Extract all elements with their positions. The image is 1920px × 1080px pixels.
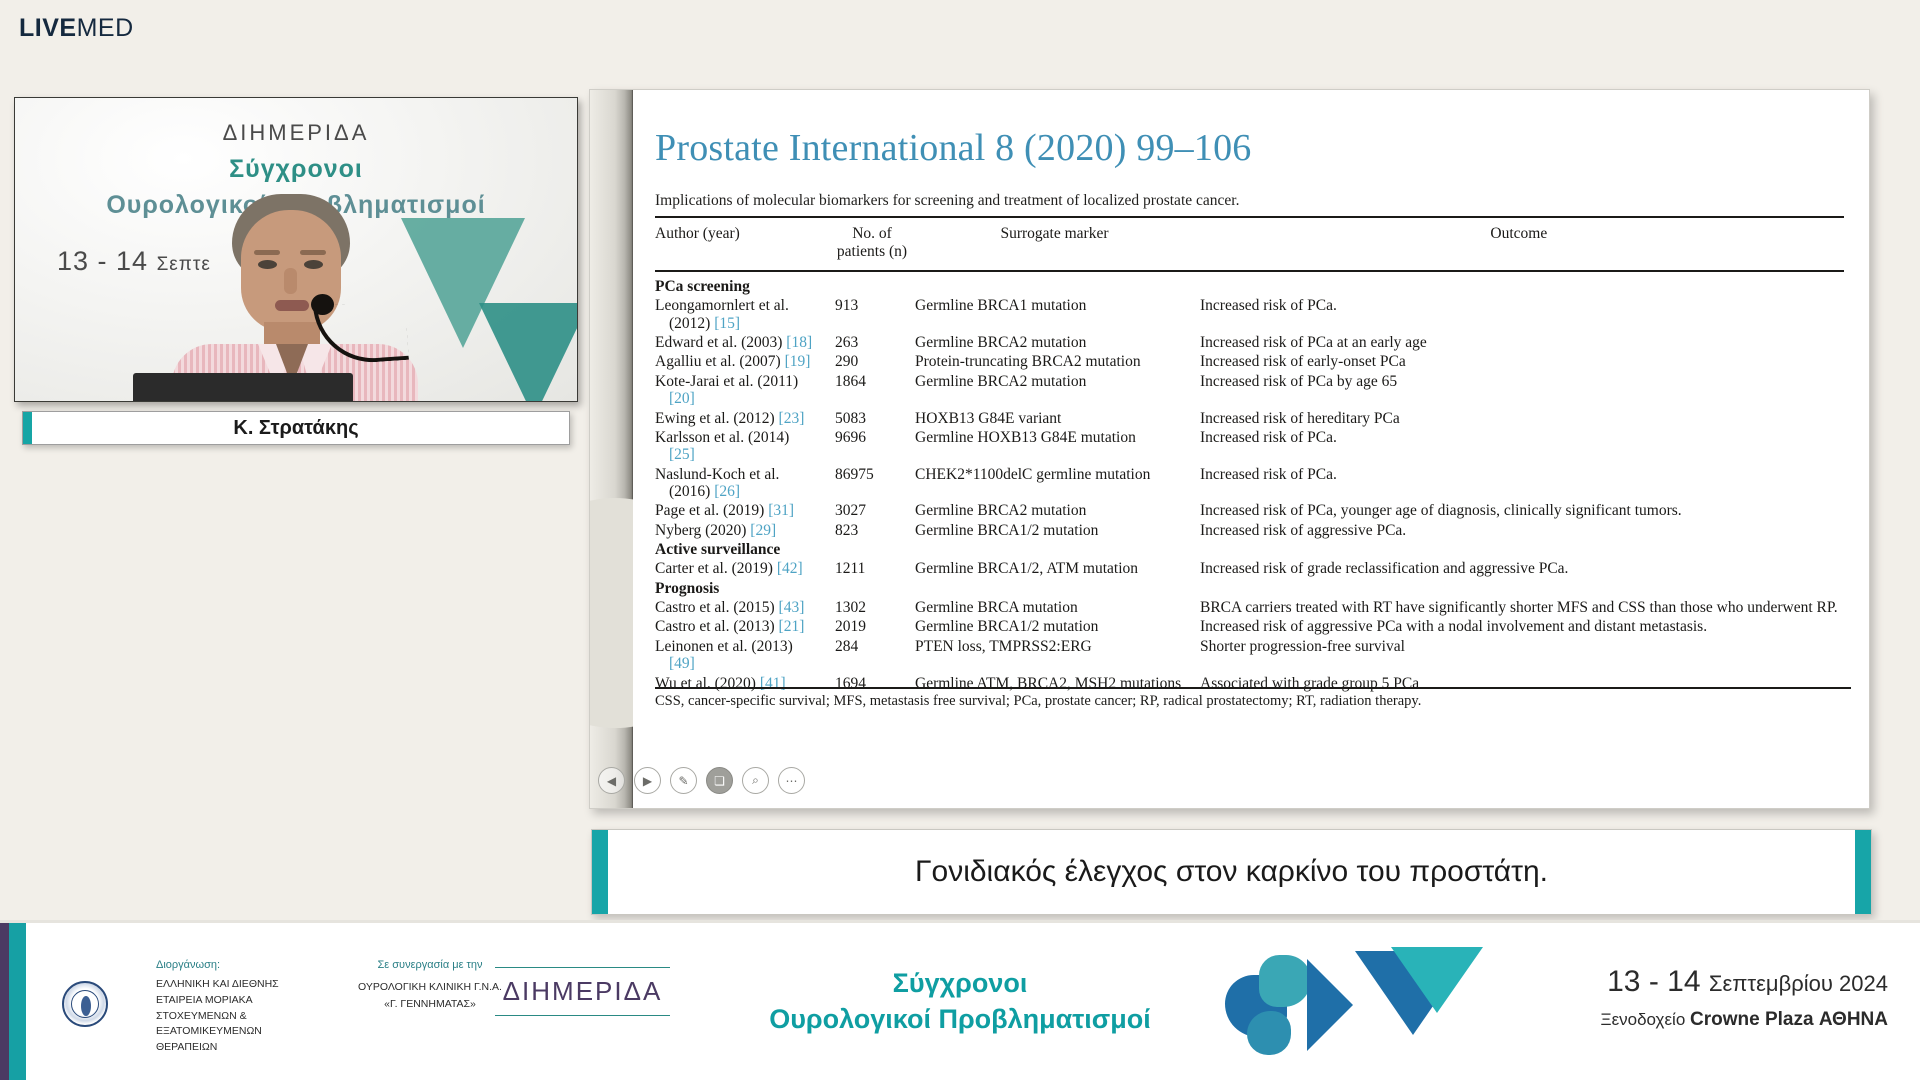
- column-header-patients: No. of patients (n): [835, 217, 915, 271]
- cell-patients: 263: [835, 333, 915, 352]
- organizer-line-2: ΣΤΟΧΕΥΜΕΝΩΝ & ΕΞΑΤΟΜΙΚΕΥΜΕΝΩΝ ΘΕΡΑΠΕΙΩΝ: [156, 1009, 312, 1056]
- cell-outcome: Shorter progression-free survival: [1200, 637, 1844, 674]
- event-date-year: 2024: [1839, 971, 1888, 996]
- reference-link[interactable]: [18]: [786, 334, 812, 351]
- cell-patients: 1864: [835, 372, 915, 409]
- backdrop-dates-days: 13 - 14: [57, 246, 157, 276]
- cell-marker: Protein-truncating BRCA2 mutation: [915, 352, 1200, 371]
- cell-marker: Germline BRCA1/2 mutation: [915, 521, 1200, 540]
- brand-logo[interactable]: LIVEMED: [19, 16, 134, 41]
- author-text: Kote-Jarai et al. (2011): [655, 373, 798, 390]
- event-date-days: 13 - 14: [1607, 965, 1709, 998]
- cell-outcome: Increased risk of PCa.: [1200, 296, 1844, 333]
- play-icon[interactable]: ▶: [634, 767, 661, 794]
- cell-marker: Germline BRCA1/2, ATM mutation: [915, 559, 1200, 578]
- cell-outcome: Increased risk of early-onset PCa: [1200, 352, 1844, 371]
- cell-marker: Germline BRCA2 mutation: [915, 372, 1200, 409]
- cell-patients: 913: [835, 296, 915, 333]
- cell-author: Leinonen et al. (2013) [49]: [655, 637, 835, 674]
- table-row: Leongamornlert et al. (2012) [15] 913 Ge…: [655, 296, 1844, 333]
- cell-author: Castro et al. (2015) [43]: [655, 598, 835, 617]
- speaker-mouth: [275, 300, 309, 311]
- cell-patients: 1694: [835, 674, 915, 693]
- speaker-nose: [284, 268, 297, 294]
- cell-patients: 3027: [835, 501, 915, 520]
- reference-link[interactable]: [26]: [714, 483, 740, 500]
- more-icon[interactable]: ⋯: [778, 767, 805, 794]
- cell-patients: 5083: [835, 409, 915, 428]
- cell-marker: Germline BRCA2 mutation: [915, 501, 1200, 520]
- table-row: Page et al. (2019) [31] 3027 Germline BR…: [655, 501, 1844, 520]
- organizer-seal-icon: [62, 981, 108, 1027]
- cell-author: Carter et al. (2019) [42]: [655, 559, 835, 578]
- author-text: Leongamornlert et al.: [655, 297, 789, 314]
- author-text: Agalliu et al. (2007): [655, 353, 781, 370]
- speaker-figure: [146, 194, 446, 401]
- cell-author: Ewing et al. (2012) [23]: [655, 409, 835, 428]
- cell-marker: Germline BRCA1 mutation: [915, 296, 1200, 333]
- speaker-video-player[interactable]: ΔΙΗΜΕΡΙΔΑ Σύγχρονοι Ουρολογικοί Προβλημα…: [14, 97, 578, 402]
- table-row: Karlsson et al. (2014) [25] 9696 Germlin…: [655, 428, 1844, 465]
- author-year: (2012): [655, 315, 710, 332]
- event-venue: Ξενοδοχείο Crowne Plaza ΑΘΗΝΑ: [1601, 1009, 1888, 1031]
- event-title-line-1: Σύγχρονοι: [700, 965, 1220, 1001]
- cell-author: Edward et al. (2003) [18]: [655, 333, 835, 352]
- speaker-brow-right: [300, 250, 326, 255]
- cell-marker: CHEK2*1100delC germline mutation: [915, 465, 1200, 502]
- artwork-chevron-1: [1307, 959, 1353, 1051]
- author-text: Naslund-Koch et al.: [655, 466, 779, 483]
- speaker-brow-left: [254, 250, 280, 255]
- table-body: PCa screening Leongamornlert et al. (201…: [655, 271, 1844, 693]
- organizer-name: ΕΛΛΗΝΙΚΗ ΚΑΙ ΔΙΕΘΝΗΣ ΕΤΑΙΡΕΙΑ ΜΟΡΙΑΚΑ ΣΤ…: [156, 977, 312, 1056]
- slides-icon[interactable]: ❏: [706, 767, 733, 794]
- table-row: Wu et al. (2020) [41] 1694 Germline ATM,…: [655, 674, 1844, 693]
- table-row: Leinonen et al. (2013) [49] 284 PTEN los…: [655, 637, 1844, 674]
- biomarker-table: Author (year) No. of patients (n) Surrog…: [655, 216, 1844, 693]
- cell-author: Kote-Jarai et al. (2011) [20]: [655, 372, 835, 409]
- cell-patients: 290: [835, 352, 915, 371]
- dimerida-text: ΔΙΗΜΕΡΙΔΑ: [495, 976, 670, 1007]
- speaker-eye-right: [304, 260, 323, 269]
- event-footer: Διοργάνωση: ΕΛΛΗΝΙΚΗ ΚΑΙ ΔΙΕΘΝΗΣ ΕΤΑΙΡΕΙ…: [0, 920, 1920, 1080]
- event-title: Σύγχρονοι Ουρολογικοί Προβληματισμοί: [700, 965, 1220, 1038]
- cell-patients: 86975: [835, 465, 915, 502]
- reference-link[interactable]: [20]: [655, 390, 695, 407]
- section-label-prognosis: Prognosis: [655, 579, 1844, 598]
- venue-city: ΑΘΗΝΑ: [1819, 1009, 1888, 1030]
- cell-outcome: Increased risk of PCa.: [1200, 428, 1844, 465]
- column-header-marker: Surrogate marker: [915, 217, 1200, 271]
- venue-hotel: Crowne Plaza: [1690, 1009, 1819, 1030]
- cell-author: Wu et al. (2020) [41]: [655, 674, 835, 693]
- slide-viewer[interactable]: Prostate International 8 (2020) 99–106 I…: [589, 89, 1870, 809]
- reference-link[interactable]: [25]: [655, 446, 695, 463]
- dimerida-logo: ΔΙΗΜΕΡΙΔΑ: [495, 967, 670, 1016]
- cell-patients: 1211: [835, 559, 915, 578]
- reference-link[interactable]: [19]: [785, 353, 811, 370]
- cell-marker: Germline HOXB13 G84E mutation: [915, 428, 1200, 465]
- author-text: Page et al. (2019): [655, 502, 764, 519]
- section-row-screening: PCa screening: [655, 271, 1844, 296]
- author-text: Castro et al. (2015): [655, 599, 775, 616]
- table-row: Agalliu et al. (2007) [19] 290 Protein-t…: [655, 352, 1844, 371]
- event-title-line-2: Ουρολογικοί Προβληματισμοί: [700, 1001, 1220, 1037]
- table-footnote: CSS, cancer-specific survival; MFS, meta…: [655, 693, 1851, 710]
- talk-title: Γονιδιακός έλεγχος στον καρκίνο του προσ…: [915, 855, 1548, 889]
- cell-marker: HOXB13 G84E variant: [915, 409, 1200, 428]
- table-bottom-rule: [655, 687, 1851, 689]
- reference-link[interactable]: [15]: [714, 315, 740, 332]
- cell-author: Agalliu et al. (2007) [19]: [655, 352, 835, 371]
- cell-patients: 2019: [835, 617, 915, 636]
- cell-author: Naslund-Koch et al. (2016) [26]: [655, 465, 835, 502]
- video-frame: ΔΙΗΜΕΡΙΔΑ Σύγχρονοι Ουρολογικοί Προβλημα…: [15, 98, 577, 401]
- webinar-page: LIVEMED ΔΙΗΜΕΡΙΔΑ Σύγχρονοι Ουρολογικοί …: [0, 0, 1920, 1080]
- author-year: (2016): [655, 483, 710, 500]
- table-head: Author (year) No. of patients (n) Surrog…: [655, 217, 1844, 271]
- event-date-venue: 13 - 14 Σεπτεμβρίου 2024 Ξενοδοχείο Crow…: [1601, 965, 1888, 1031]
- cell-patients: 1302: [835, 598, 915, 617]
- cell-outcome: Increased risk of PCa, younger age of di…: [1200, 501, 1844, 520]
- author-text: Carter et al. (2019): [655, 560, 773, 577]
- brand-logo-live: LIVE: [19, 14, 77, 42]
- caption-accent-right: [1855, 830, 1871, 914]
- podium: [133, 373, 353, 401]
- table-row: Edward et al. (2003) [18] 263 Germline B…: [655, 333, 1844, 352]
- reference-link[interactable]: [29]: [750, 522, 776, 539]
- prev-slide-icon[interactable]: ◀: [598, 767, 625, 794]
- event-date: 13 - 14 Σεπτεμβρίου 2024: [1601, 965, 1888, 999]
- pen-icon[interactable]: ✎: [670, 767, 697, 794]
- venue-prefix: Ξενοδοχείο: [1601, 1010, 1691, 1029]
- cell-author: Leongamornlert et al. (2012) [15]: [655, 296, 835, 333]
- cell-marker: Germline BRCA1/2 mutation: [915, 617, 1200, 636]
- author-text: Nyberg (2020): [655, 522, 746, 539]
- journal-title: Prostate International 8 (2020) 99–106: [655, 126, 1251, 170]
- table-row: Castro et al. (2015) [43] 1302 Germline …: [655, 598, 1844, 617]
- column-header-patients-l1: No. of: [852, 225, 892, 242]
- cell-author: Castro et al. (2013) [21]: [655, 617, 835, 636]
- cell-patients: 9696: [835, 428, 915, 465]
- slide-player-controls[interactable]: ◀ ▶ ✎ ❏ ⌕ ⋯: [598, 767, 805, 794]
- backdrop-chevron-2: [479, 303, 577, 401]
- reference-link[interactable]: [23]: [779, 410, 805, 427]
- artwork-blob-2: [1259, 955, 1311, 1007]
- section-label-screening: PCa screening: [655, 271, 1844, 296]
- author-text: Leinonen et al. (2013): [655, 638, 793, 655]
- cell-author: Page et al. (2019) [31]: [655, 501, 835, 520]
- speaker-eye-left: [258, 260, 277, 269]
- cell-outcome: Increased risk of grade reclassification…: [1200, 559, 1844, 578]
- table-row: Castro et al. (2013) [21] 2019 Germline …: [655, 617, 1844, 636]
- table-row: Carter et al. (2019) [42] 1211 Germline …: [655, 559, 1844, 578]
- cell-patients: 284: [835, 637, 915, 674]
- artwork-chevron-3: [1391, 947, 1483, 1013]
- cell-marker: Germline BRCA mutation: [915, 598, 1200, 617]
- organizer-line-1: ΕΛΛΗΝΙΚΗ ΚΑΙ ΔΙΕΘΝΗΣ ΕΤΑΙΡΕΙΑ ΜΟΡΙΑΚΑ: [156, 977, 312, 1009]
- column-header-author: Author (year): [655, 217, 835, 271]
- name-plate-accent-bar: [23, 412, 32, 444]
- table-caption: Implications of molecular biomarkers for…: [655, 192, 1849, 210]
- cell-outcome: Increased risk of PCa at an early age: [1200, 333, 1844, 352]
- speaker-name-plate: Κ. Στρατάκης: [22, 411, 570, 445]
- column-header-patients-l2: patients (n): [837, 243, 907, 260]
- brand-logo-med: MED: [77, 14, 134, 42]
- cell-author: Karlsson et al. (2014) [25]: [655, 428, 835, 465]
- cell-outcome: Increased risk of aggressive PCa.: [1200, 521, 1844, 540]
- section-row-surveillance: Active surveillance: [655, 540, 1844, 559]
- zoom-icon[interactable]: ⌕: [742, 767, 769, 794]
- cell-marker: Germline BRCA2 mutation: [915, 333, 1200, 352]
- column-header-outcome: Outcome: [1200, 217, 1844, 271]
- microphone-head-icon: [311, 294, 334, 315]
- organizer-block: Διοργάνωση: ΕΛΛΗΝΙΚΗ ΚΑΙ ΔΙΕΘΝΗΣ ΕΤΑΙΡΕΙ…: [52, 959, 312, 1056]
- caption-accent-left: [592, 830, 608, 914]
- table-row: Naslund-Koch et al. (2016) [26] 86975 CH…: [655, 465, 1844, 502]
- reference-link[interactable]: [21]: [779, 618, 805, 635]
- author-text: Karlsson et al. (2014): [655, 429, 789, 446]
- cell-outcome: BRCA carriers treated with RT have signi…: [1200, 598, 1844, 617]
- author-text: Edward et al. (2003): [655, 334, 782, 351]
- reference-link[interactable]: [42]: [777, 560, 803, 577]
- table-row: Nyberg (2020) [29] 823 Germline BRCA1/2 …: [655, 521, 1844, 540]
- section-row-prognosis: Prognosis: [655, 579, 1844, 598]
- backdrop-text-title1: Σύγχρονοι: [15, 155, 577, 184]
- footer-accent-bar-purple: [0, 923, 9, 1080]
- table-row: Kote-Jarai et al. (2011) [20] 1864 Germl…: [655, 372, 1844, 409]
- table-header-row: Author (year) No. of patients (n) Surrog…: [655, 217, 1844, 271]
- backdrop-text-dimerida: ΔΙΗΜΕΡΙΔΑ: [15, 120, 577, 146]
- cell-marker: Germline ATM, BRCA2, MSH2 mutations: [915, 674, 1200, 693]
- section-label-surveillance: Active surveillance: [655, 540, 1844, 559]
- talk-title-bar: Γονιδιακός έλεγχος στον καρκίνο του προσ…: [591, 829, 1872, 915]
- cell-author: Nyberg (2020) [29]: [655, 521, 835, 540]
- cell-outcome: Increased risk of PCa by age 65: [1200, 372, 1844, 409]
- author-text: Castro et al. (2013): [655, 618, 775, 635]
- cell-outcome: Increased risk of PCa.: [1200, 465, 1844, 502]
- author-text: Ewing et al. (2012): [655, 410, 775, 427]
- cell-outcome: Associated with grade group 5 PCa: [1200, 674, 1844, 693]
- artwork-blob-3: [1247, 1011, 1291, 1055]
- slide-gutter: [590, 90, 633, 808]
- cell-marker: PTEN loss, TMPRSS2:ERG: [915, 637, 1200, 674]
- cell-patients: 823: [835, 521, 915, 540]
- table-row: Ewing et al. (2012) [23] 5083 HOXB13 G84…: [655, 409, 1844, 428]
- speaker-name: Κ. Στρατάκης: [233, 417, 358, 440]
- event-artwork: [1215, 933, 1515, 1073]
- slide-content: Prostate International 8 (2020) 99–106 I…: [633, 90, 1869, 808]
- reference-link[interactable]: [49]: [655, 655, 695, 672]
- cell-outcome: Increased risk of aggressive PCa with a …: [1200, 617, 1844, 636]
- event-date-month: Σεπτεμβρίου: [1709, 971, 1839, 996]
- reference-link[interactable]: [43]: [779, 599, 805, 616]
- cell-outcome: Increased risk of hereditary PCa: [1200, 409, 1844, 428]
- reference-link[interactable]: [31]: [768, 502, 794, 519]
- organizer-label: Διοργάνωση:: [156, 959, 312, 971]
